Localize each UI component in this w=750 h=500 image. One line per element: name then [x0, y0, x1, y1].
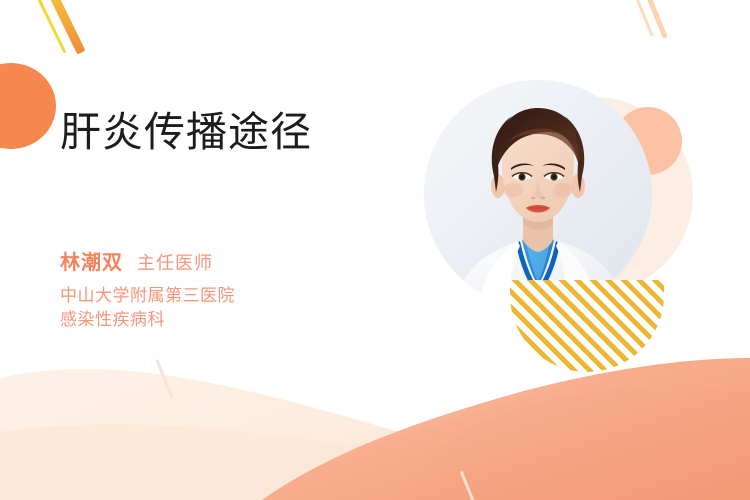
- coral-wave-lobe: [398, 386, 750, 500]
- doctor-name-row: 林潮双 主任医师: [60, 246, 400, 275]
- doctor-credit-block: 林潮双 主任医师 中山大学附属第三医院 感染性疾病科: [60, 246, 400, 332]
- doctor-hospital: 中山大学附属第三医院: [60, 284, 400, 308]
- doctor-department: 感染性疾病科: [60, 308, 400, 332]
- portrait-illustration: [424, 80, 652, 308]
- doctor-rank: 主任医师: [137, 249, 213, 275]
- doctor-portrait-photo: [424, 80, 652, 308]
- yellow-striped-semicircle: [510, 280, 664, 372]
- doctor-name: 林潮双: [60, 246, 123, 275]
- presentation-slide: 肝炎传播途径 林潮双 主任医师 中山大学附属第三医院 感染性疾病科: [0, 0, 750, 500]
- title-block: 肝炎传播途径: [60, 108, 420, 156]
- doctor-affiliation: 中山大学附属第三医院 感染性疾病科: [60, 284, 400, 332]
- portrait-cluster: [414, 74, 700, 374]
- page-title: 肝炎传播途径: [60, 108, 420, 156]
